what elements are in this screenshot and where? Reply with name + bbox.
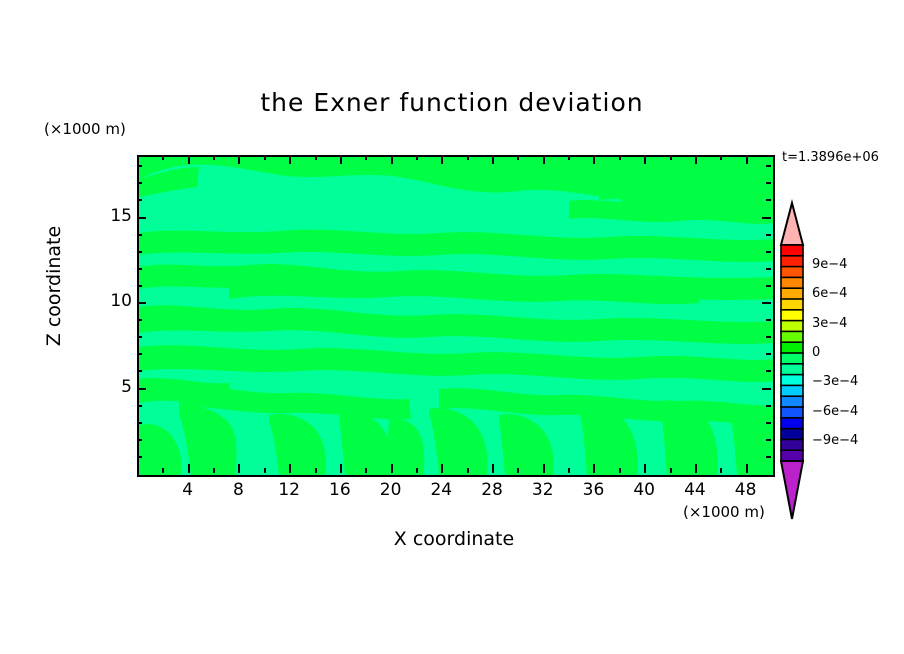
axis-tick: [340, 464, 342, 473]
y-tick-label: 5: [96, 377, 132, 397]
axis-tick: [766, 456, 771, 458]
axis-tick: [162, 155, 164, 160]
x-tick-label: 8: [218, 480, 258, 500]
axis-tick: [162, 468, 164, 473]
axis-tick: [762, 217, 771, 219]
axis-tick: [517, 155, 519, 160]
axis-tick: [416, 468, 418, 473]
axis-tick: [137, 268, 142, 270]
axis-tick: [391, 155, 393, 164]
colorbar-under-arrow: [781, 461, 803, 519]
axis-tick: [766, 336, 771, 338]
axis-tick: [391, 464, 393, 473]
axis-tick: [766, 405, 771, 407]
axis-tick: [766, 439, 771, 441]
axis-tick: [365, 155, 367, 160]
axis-tick: [137, 234, 142, 236]
axis-tick: [670, 468, 672, 473]
x-tick-label: 16: [320, 480, 360, 500]
axis-tick: [213, 155, 215, 160]
axis-tick: [188, 155, 190, 164]
colorbar-band: [781, 310, 803, 321]
colorbar-band: [781, 385, 803, 396]
colorbar[interactable]: 9e−46e−43e−40−3e−4−6e−4−9e−4: [776, 198, 896, 528]
axis-tick: [340, 155, 342, 164]
x-tick-label: 20: [371, 480, 411, 500]
time-annotation: t=1.3896e+06: [782, 150, 879, 165]
x-tick-label: 24: [421, 480, 461, 500]
axis-tick: [137, 456, 142, 458]
axis-tick: [746, 155, 748, 164]
y-tick-label: 15: [96, 206, 132, 226]
axis-tick: [213, 468, 215, 473]
y-axis-units-label: (×1000 m): [44, 120, 126, 138]
axis-tick: [289, 464, 291, 473]
colorbar-over-arrow: [781, 203, 803, 245]
axis-tick: [543, 155, 545, 164]
colorbar-gradient: [776, 198, 896, 528]
colorbar-tick-label: −6e−4: [812, 404, 858, 419]
axis-tick: [441, 464, 443, 473]
axis-tick: [441, 155, 443, 164]
axis-tick: [670, 155, 672, 160]
axis-tick: [568, 155, 570, 160]
y-tick-label: 10: [96, 291, 132, 311]
axis-tick: [766, 182, 771, 184]
axis-tick: [746, 464, 748, 473]
axis-tick: [492, 464, 494, 473]
x-tick-label: 12: [269, 480, 309, 500]
axis-tick: [543, 464, 545, 473]
x-axis-units-label: (×1000 m): [683, 503, 765, 521]
x-axis-title: X coordinate: [137, 528, 771, 550]
axis-tick: [137, 285, 142, 287]
axis-tick: [766, 422, 771, 424]
colorbar-band: [781, 375, 803, 386]
contour-plot-area[interactable]: [137, 155, 775, 477]
axis-tick: [467, 468, 469, 473]
axis-tick: [467, 155, 469, 160]
axis-tick: [766, 319, 771, 321]
axis-tick: [137, 165, 142, 167]
axis-tick: [137, 370, 142, 372]
axis-tick: [695, 155, 697, 164]
axis-tick: [137, 199, 142, 201]
axis-tick: [137, 319, 142, 321]
colorbar-tick-label: 6e−4: [812, 286, 847, 301]
axis-tick: [766, 353, 771, 355]
axis-tick: [619, 468, 621, 473]
x-tick-label: 36: [573, 480, 613, 500]
axis-tick: [619, 155, 621, 160]
axis-tick: [695, 464, 697, 473]
axis-tick: [568, 468, 570, 473]
colorbar-band: [781, 342, 803, 353]
colorbar-band: [781, 321, 803, 332]
colorbar-tick-label: 9e−4: [812, 257, 847, 272]
axis-tick: [137, 251, 142, 253]
axis-tick: [137, 336, 142, 338]
colorbar-band: [781, 429, 803, 440]
axis-tick: [365, 468, 367, 473]
axis-tick: [315, 468, 317, 473]
x-tick-label: 4: [168, 480, 208, 500]
axis-tick: [766, 251, 771, 253]
x-tick-label: 28: [472, 480, 512, 500]
axis-tick: [762, 388, 771, 390]
axis-tick: [264, 155, 266, 160]
x-tick-label: 48: [726, 480, 766, 500]
colorbar-band: [781, 353, 803, 364]
axis-tick: [720, 468, 722, 473]
axis-tick: [593, 464, 595, 473]
colorbar-band: [781, 245, 803, 256]
page-title: the Exner function deviation: [0, 88, 904, 117]
axis-tick: [644, 155, 646, 164]
colorbar-band: [781, 364, 803, 375]
axis-tick: [137, 353, 142, 355]
colorbar-tick-label: −3e−4: [812, 374, 858, 389]
colorbar-tick-label: 3e−4: [812, 316, 847, 331]
colorbar-band: [781, 439, 803, 450]
colorbar-band: [781, 331, 803, 342]
colorbar-band: [781, 288, 803, 299]
axis-tick: [766, 268, 771, 270]
axis-tick: [492, 155, 494, 164]
colorbar-tick-label: −9e−4: [812, 433, 858, 448]
axis-tick: [720, 155, 722, 160]
axis-tick: [264, 468, 266, 473]
axis-tick: [137, 439, 142, 441]
colorbar-tick-label: 0: [812, 345, 820, 360]
colorbar-band: [781, 267, 803, 278]
y-axis-title: Z coordinate: [43, 206, 65, 366]
axis-tick: [137, 182, 142, 184]
axis-tick: [315, 155, 317, 160]
axis-tick: [289, 155, 291, 164]
colorbar-band: [781, 299, 803, 310]
axis-tick: [238, 464, 240, 473]
axis-tick: [766, 234, 771, 236]
colorbar-band: [781, 396, 803, 407]
colorbar-band: [781, 418, 803, 429]
axis-tick: [416, 155, 418, 160]
axis-tick: [137, 405, 142, 407]
x-tick-label: 44: [675, 480, 715, 500]
axis-tick: [517, 468, 519, 473]
axis-tick: [762, 302, 771, 304]
x-tick-label: 40: [624, 480, 664, 500]
axis-tick: [766, 285, 771, 287]
axis-tick: [644, 464, 646, 473]
axis-tick: [766, 370, 771, 372]
x-tick-label: 32: [523, 480, 563, 500]
axis-tick: [188, 464, 190, 473]
axis-tick: [238, 155, 240, 164]
colorbar-band: [781, 407, 803, 418]
axis-tick: [137, 302, 146, 304]
axis-tick: [137, 217, 146, 219]
colorbar-band: [781, 450, 803, 461]
axis-tick: [593, 155, 595, 164]
axis-tick: [137, 422, 142, 424]
axis-tick: [766, 199, 771, 201]
axis-tick: [766, 165, 771, 167]
contour-field: [139, 157, 773, 475]
colorbar-band: [781, 256, 803, 267]
colorbar-band: [781, 277, 803, 288]
axis-tick: [137, 388, 146, 390]
